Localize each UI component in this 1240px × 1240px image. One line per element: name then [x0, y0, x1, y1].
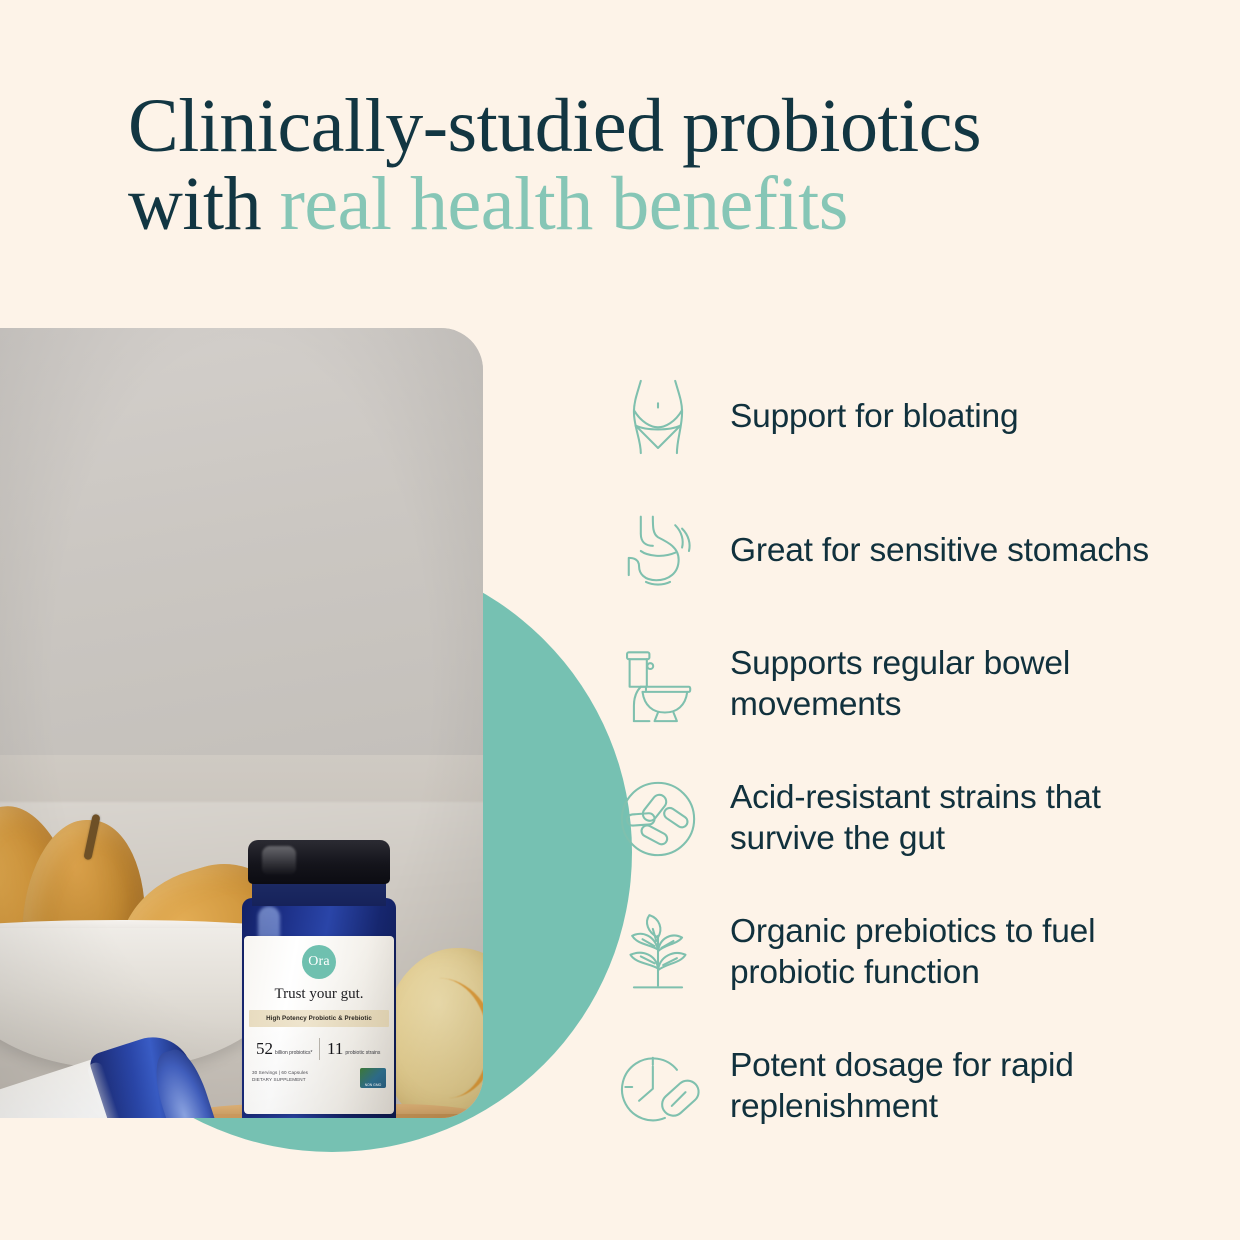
product-photo: Ora Trust your gut. High Potency Probiot… — [0, 328, 483, 1118]
benefit-item-sensitive-stomachs: Great for sensitive stomachs — [612, 484, 1192, 618]
headline-accent-text: real health benefits — [280, 162, 848, 246]
benefit-label: Potent dosage for rapid replenishment — [730, 1046, 1192, 1127]
clock-pill-icon — [612, 1041, 704, 1133]
toilet-icon — [612, 639, 704, 731]
headline-line-1: Clinically-studied probiotics — [128, 88, 1138, 166]
marketing-infographic: Clinically-studied probiotics with real … — [0, 0, 1240, 1240]
benefit-item-organic-prebiotics: Organic prebiotics to fuel probiotic fun… — [612, 886, 1192, 1020]
benefit-item-potent-dosage: Potent dosage for rapid replenishment — [612, 1020, 1192, 1154]
plant-icon — [612, 907, 704, 999]
benefits-list: Support for bloating Great for sensitive… — [612, 350, 1192, 1154]
benefit-item-bowel-movements: Supports regular bowel movements — [612, 618, 1192, 752]
product-photo-scene: Ora Trust your gut. High Potency Probiot… — [0, 328, 483, 1118]
bacteria-icon — [612, 773, 704, 865]
stomach-icon — [612, 505, 704, 597]
benefit-item-acid-resistant: Acid-resistant strains that survive the … — [612, 752, 1192, 886]
benefit-label: Supports regular bowel movements — [730, 644, 1192, 725]
benefit-label: Acid-resistant strains that survive the … — [730, 778, 1192, 859]
benefit-item-bloating: Support for bloating — [612, 350, 1192, 484]
benefit-label: Support for bloating — [730, 397, 1018, 438]
headline-line-2-lead: with — [128, 162, 280, 246]
headline-line-2: with real health benefits — [128, 166, 1138, 244]
page-title: Clinically-studied probiotics with real … — [128, 88, 1138, 243]
benefit-label: Organic prebiotics to fuel probiotic fun… — [730, 912, 1192, 993]
photo-vignette — [0, 328, 483, 1118]
belly-icon — [612, 371, 704, 463]
benefit-label: Great for sensitive stomachs — [730, 531, 1149, 572]
